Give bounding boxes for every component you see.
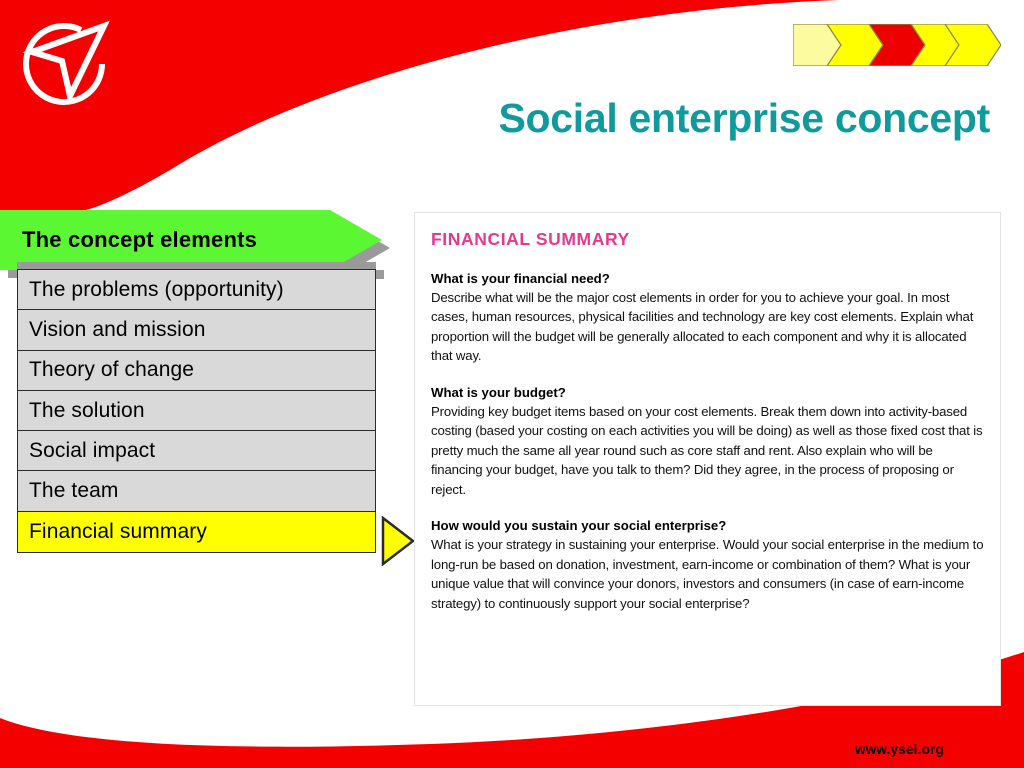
panel-heading: FINANCIAL SUMMARY bbox=[431, 229, 984, 250]
list-item[interactable]: The team bbox=[18, 471, 375, 511]
banner-label: The concept elements bbox=[22, 210, 257, 270]
content-block: What is your financial need? Describe wh… bbox=[431, 270, 984, 366]
content-block: What is your budget? Providing key budge… bbox=[431, 384, 984, 499]
arrow-in-circle-logo bbox=[18, 14, 118, 114]
content-answer: Describe what will be the major cost ele… bbox=[431, 288, 984, 366]
list-item-label: The team bbox=[29, 479, 119, 503]
list-right-shadow bbox=[376, 270, 384, 279]
content-answer: What is your strategy in sustaining your… bbox=[431, 535, 984, 613]
content-answer: Providing key budget items based on your… bbox=[431, 402, 984, 500]
list-item-label: Financial summary bbox=[29, 520, 207, 544]
list-item[interactable]: Vision and mission bbox=[18, 310, 375, 350]
list-item[interactable]: Theory of change bbox=[18, 351, 375, 391]
list-item[interactable]: The solution bbox=[18, 391, 375, 431]
list-item[interactable]: Social impact bbox=[18, 431, 375, 471]
content-question: What is your financial need? bbox=[431, 270, 984, 288]
chevron-progress-ribbon bbox=[793, 24, 1001, 66]
list-item-label: The problems (opportunity) bbox=[29, 278, 284, 302]
list-item-label: The solution bbox=[29, 399, 145, 423]
list-item[interactable]: The problems (opportunity) bbox=[18, 270, 375, 310]
list-item-label: Theory of change bbox=[29, 358, 194, 382]
list-item-selected[interactable]: Financial summary bbox=[18, 512, 375, 552]
list-item-label: Vision and mission bbox=[29, 318, 206, 342]
concept-elements-banner: The concept elements bbox=[0, 210, 382, 270]
content-block: How would you sustain your social enterp… bbox=[431, 517, 984, 613]
page-title: Social enterprise concept bbox=[330, 96, 990, 141]
triangle-right-icon bbox=[381, 516, 415, 566]
footer-url[interactable]: www.ysei.org bbox=[855, 742, 944, 757]
financial-summary-panel: FINANCIAL SUMMARY What is your financial… bbox=[414, 212, 1001, 706]
slide-canvas: Social enterprise concept The concept el… bbox=[0, 0, 1024, 768]
content-question: How would you sustain your social enterp… bbox=[431, 517, 984, 535]
list-item-label: Social impact bbox=[29, 439, 155, 463]
concept-elements-list: The problems (opportunity) Vision and mi… bbox=[17, 269, 376, 553]
content-question: What is your budget? bbox=[431, 384, 984, 402]
